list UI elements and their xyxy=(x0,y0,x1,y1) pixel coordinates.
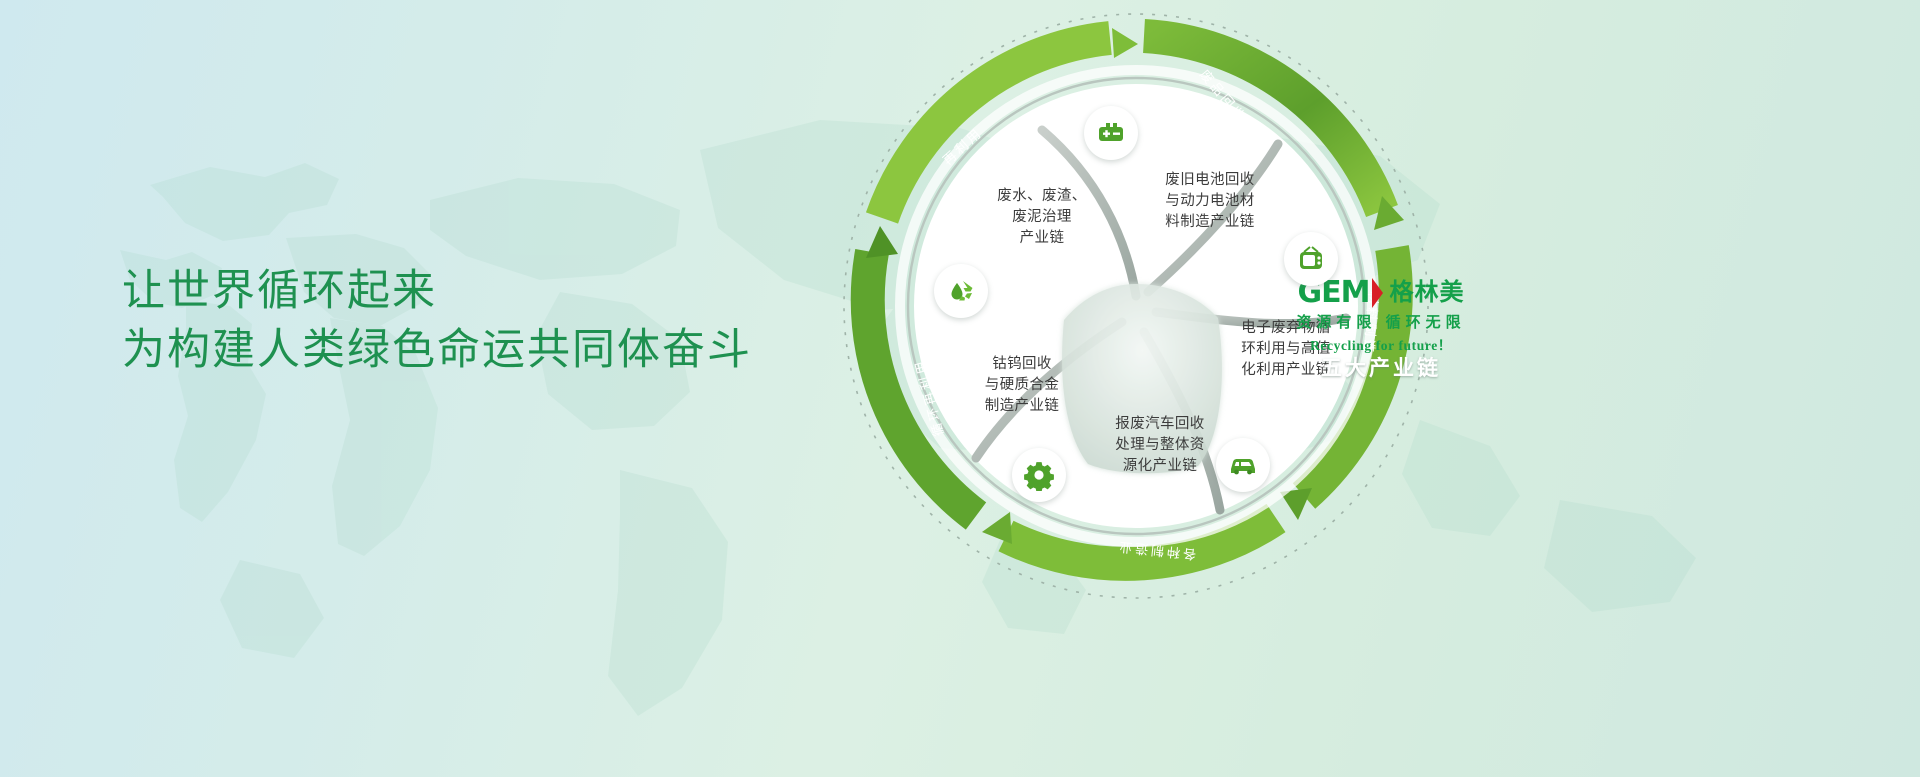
center-title: 五大产业链 xyxy=(1246,352,1516,382)
gem-slogan-en: Recycling for future！ xyxy=(1246,334,1516,354)
recycle-drop-icon-badge xyxy=(934,264,988,318)
segment-label-cobalt-tungsten: 钴钨回收 与硬质合金 制造产业链 xyxy=(952,354,1092,417)
car-icon xyxy=(1227,449,1259,481)
segment-label-battery: 废旧电池回收 与动力电池材 料制造产业链 xyxy=(1140,170,1280,233)
segment-label-waste-water: 废水、废渣、 废泥治理 产业链 xyxy=(972,186,1112,249)
car-icon-badge xyxy=(1216,438,1270,492)
battery-icon-badge xyxy=(1084,106,1138,160)
gem-logo: GEM 格林美 资源有限 循环无限 Recycling for future！ xyxy=(1246,278,1516,354)
television-icon xyxy=(1296,244,1326,274)
gear-icon-badge xyxy=(1012,448,1066,502)
television-icon-badge xyxy=(1284,232,1338,286)
battery-icon xyxy=(1096,118,1126,148)
headline-line-2: 为构建人类绿色命运共同体奋斗 xyxy=(122,321,752,380)
gear-icon xyxy=(1023,459,1055,491)
headline-line-1: 让世界循环起来 xyxy=(122,262,752,321)
gem-triangle-icon xyxy=(1372,278,1383,308)
hero-headline: 让世界循环起来 为构建人类绿色命运共同体奋斗 xyxy=(122,262,752,381)
gem-slogan-cn: 资源有限 循环无限 xyxy=(1246,311,1516,332)
gem-chinese-name: 格林美 xyxy=(1389,281,1464,305)
segment-label-end-of-life-vehicle: 报废汽车回收 处理与整体资 源化产业链 xyxy=(1090,414,1230,477)
recycle-drop-icon xyxy=(945,275,977,307)
